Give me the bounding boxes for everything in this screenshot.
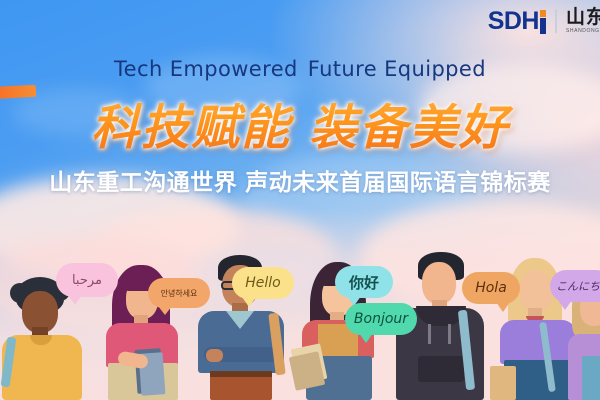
person-5-drawstring — [448, 324, 451, 344]
person-6-top — [500, 320, 576, 364]
logo-letter-i — [540, 10, 546, 34]
logo-chinese-block: 山东 SHANDONG — [566, 8, 600, 34]
logo-chinese-text: 山东 — [566, 8, 600, 27]
bubble-chinese-text: 你好 — [349, 272, 379, 293]
headline-english: Tech EmpoweredFuture Equipped — [0, 57, 600, 81]
person-5-head — [422, 262, 456, 304]
logo-divider — [555, 9, 557, 33]
bubble-tail — [68, 295, 82, 305]
logo-i-stem — [540, 18, 546, 34]
sdhi-logo[interactable]: SDH 山东 SHANDONG — [488, 8, 600, 34]
banner-stage: SDH 山东 SHANDONG Tech EmpoweredFuture Equ… — [0, 0, 600, 400]
bubble-tail — [496, 302, 510, 312]
headline-chinese: 科技赋能装备美好 — [0, 88, 600, 158]
logo-chinese-pinyin: SHANDONG — [566, 29, 600, 34]
person-7-bag — [582, 356, 600, 400]
bubble-japanese-text: こんにちは — [556, 278, 600, 294]
person-3-belt — [210, 371, 272, 377]
subtitle-part1: 山东重工沟通世界 — [49, 170, 237, 196]
subtitle-line: 山东重工沟通世界声动未来首届国际语言锦标赛 — [0, 163, 600, 197]
bubble-tail — [558, 300, 572, 310]
bubble-english-text: Hello — [245, 275, 281, 291]
subtitle-part2: 声动未来首届国际语言锦标赛 — [245, 170, 551, 196]
bubble-tail — [242, 297, 256, 307]
bubble-japanese: こんにちは — [550, 270, 600, 302]
bubble-arabic-text: مرحبا — [72, 273, 102, 288]
headline-chinese-part1: 科技赋能 — [91, 100, 291, 156]
bubble-korean-text: 안녕하세요 — [161, 288, 198, 299]
logo-latin-text: SDH — [488, 9, 539, 34]
logo-mark: SDH — [488, 9, 546, 34]
bubble-spanish: Hola — [462, 272, 520, 304]
headline-chinese-part2: 装备美好 — [309, 100, 509, 156]
bubble-chinese: 你好 — [335, 266, 393, 298]
person-3-hand — [206, 349, 223, 362]
person-6-tote-bag — [490, 366, 516, 400]
bubble-spanish-text: Hola — [475, 280, 507, 296]
bubble-arabic: مرحبا — [56, 263, 118, 297]
person-5-drawstring — [428, 324, 431, 344]
bubble-french: Bonjour — [345, 303, 417, 335]
person-6-head — [520, 270, 552, 312]
bubble-french-text: Bonjour — [354, 311, 408, 327]
headline-english-part2: Future Equipped — [308, 57, 486, 81]
bubble-english: Hello — [232, 267, 294, 299]
bubble-tail — [359, 333, 373, 343]
bubble-tail — [158, 306, 172, 315]
headline-english-part1: Tech Empowered — [114, 57, 298, 81]
logo-i-dot — [540, 10, 546, 17]
bubble-korean: 안녕하세요 — [148, 278, 210, 308]
person-5-pocket — [418, 356, 464, 382]
